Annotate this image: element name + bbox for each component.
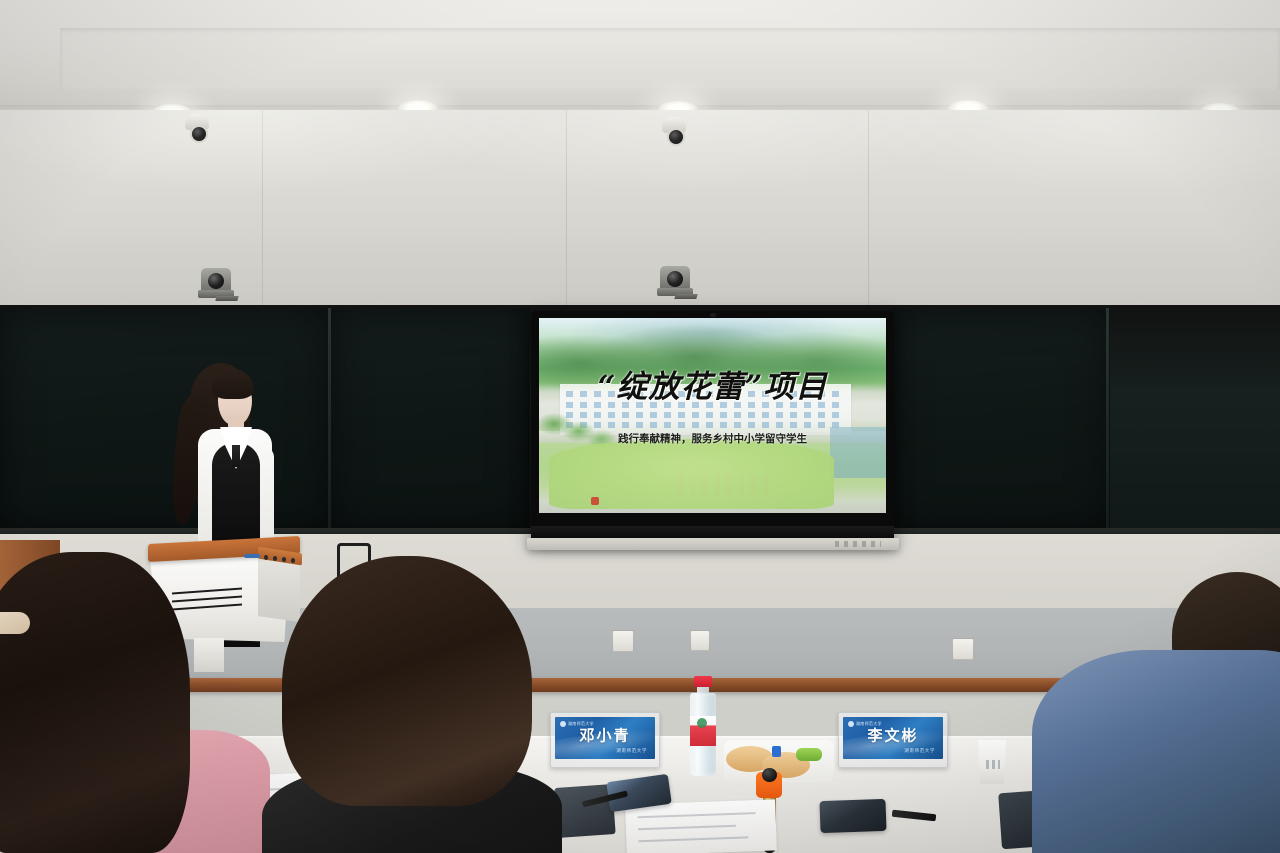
presenter-hair-front bbox=[212, 369, 254, 399]
presenter-tie bbox=[232, 445, 240, 467]
cup-print-icon bbox=[986, 760, 1000, 769]
documents[interactable] bbox=[625, 799, 777, 853]
nameplate-subtext: 湖南师范大学 bbox=[904, 748, 935, 754]
nameplate-name: 李文彬 bbox=[843, 725, 943, 746]
display-mount-rail bbox=[527, 538, 899, 550]
bread-tag bbox=[772, 746, 781, 757]
notebook[interactable] bbox=[554, 784, 615, 838]
display-screen[interactable]: “绽放花蕾”项目 践行奉献精神，服务乡村中小学留守学生 bbox=[539, 318, 886, 513]
wall-switch[interactable] bbox=[690, 630, 710, 651]
nameplate-card: 湖南师范大学 李文彬 湖南师范大学 bbox=[843, 717, 943, 759]
slide-subtitle: 践行奉献精神，服务乡村中小学留守学生 bbox=[539, 431, 886, 446]
attendee-pink-sweater bbox=[0, 552, 270, 853]
wall-seam bbox=[262, 110, 263, 310]
attendee-hair bbox=[0, 552, 190, 853]
bread-garnish bbox=[796, 748, 822, 761]
attendee-hair bbox=[282, 556, 532, 806]
hair-clip bbox=[0, 612, 30, 634]
display-bottom-bezel bbox=[531, 526, 894, 538]
nameplate-holder: 湖南师范大学 李文彬 湖南师范大学 bbox=[838, 712, 948, 768]
wall-socket[interactable] bbox=[612, 630, 634, 652]
ptz-camera-icon bbox=[196, 268, 236, 304]
dome-camera-icon bbox=[185, 114, 209, 144]
blackboard-divider bbox=[328, 308, 331, 530]
wall-socket[interactable] bbox=[952, 638, 974, 660]
ceiling-soffit bbox=[60, 28, 1280, 90]
slide-title: “绽放花蕾”项目 bbox=[539, 361, 886, 406]
dome-camera-icon bbox=[662, 117, 686, 147]
lecture-room-scene: “绽放花蕾”项目 践行奉献精神，服务乡村中小学留守学生 bbox=[0, 0, 1280, 853]
bottle-cap[interactable] bbox=[694, 676, 712, 687]
presentation-slide: “绽放花蕾”项目 践行奉献精神，服务乡村中小学留守学生 bbox=[539, 318, 886, 513]
bottle-logo-icon bbox=[697, 718, 707, 728]
nameplate-name: 邓小青 bbox=[555, 725, 655, 746]
water-bottle[interactable] bbox=[688, 676, 718, 776]
smartphone[interactable] bbox=[819, 799, 886, 833]
screen-top-camera-icon bbox=[710, 313, 716, 317]
nameplate-holder: 湖南师范大学 邓小青 湖南师范大学 bbox=[550, 712, 660, 768]
blackboard-panel-right bbox=[890, 308, 1110, 530]
slide-logo-icon bbox=[591, 497, 599, 505]
nameplate-subtext: 湖南师范大学 bbox=[616, 748, 647, 754]
blackboard-divider bbox=[1106, 308, 1109, 530]
attendee-blue-blazer bbox=[1022, 572, 1280, 853]
blackboard-panel-mid bbox=[330, 308, 530, 530]
wall-seam bbox=[868, 110, 869, 310]
ceiling bbox=[0, 0, 1280, 112]
ptz-camera-icon bbox=[655, 266, 695, 302]
display-control-buttons[interactable] bbox=[835, 541, 881, 547]
interactive-display[interactable]: “绽放花蕾”项目 践行奉献精神，服务乡村中小学留守学生 bbox=[531, 311, 894, 540]
attendee-body bbox=[1032, 650, 1280, 853]
wall-seam bbox=[566, 110, 567, 310]
attendee-dark-jacket bbox=[262, 556, 562, 853]
nameplate-card: 湖南师范大学 邓小青 湖南师范大学 bbox=[555, 717, 655, 759]
microphone-head bbox=[762, 768, 777, 782]
